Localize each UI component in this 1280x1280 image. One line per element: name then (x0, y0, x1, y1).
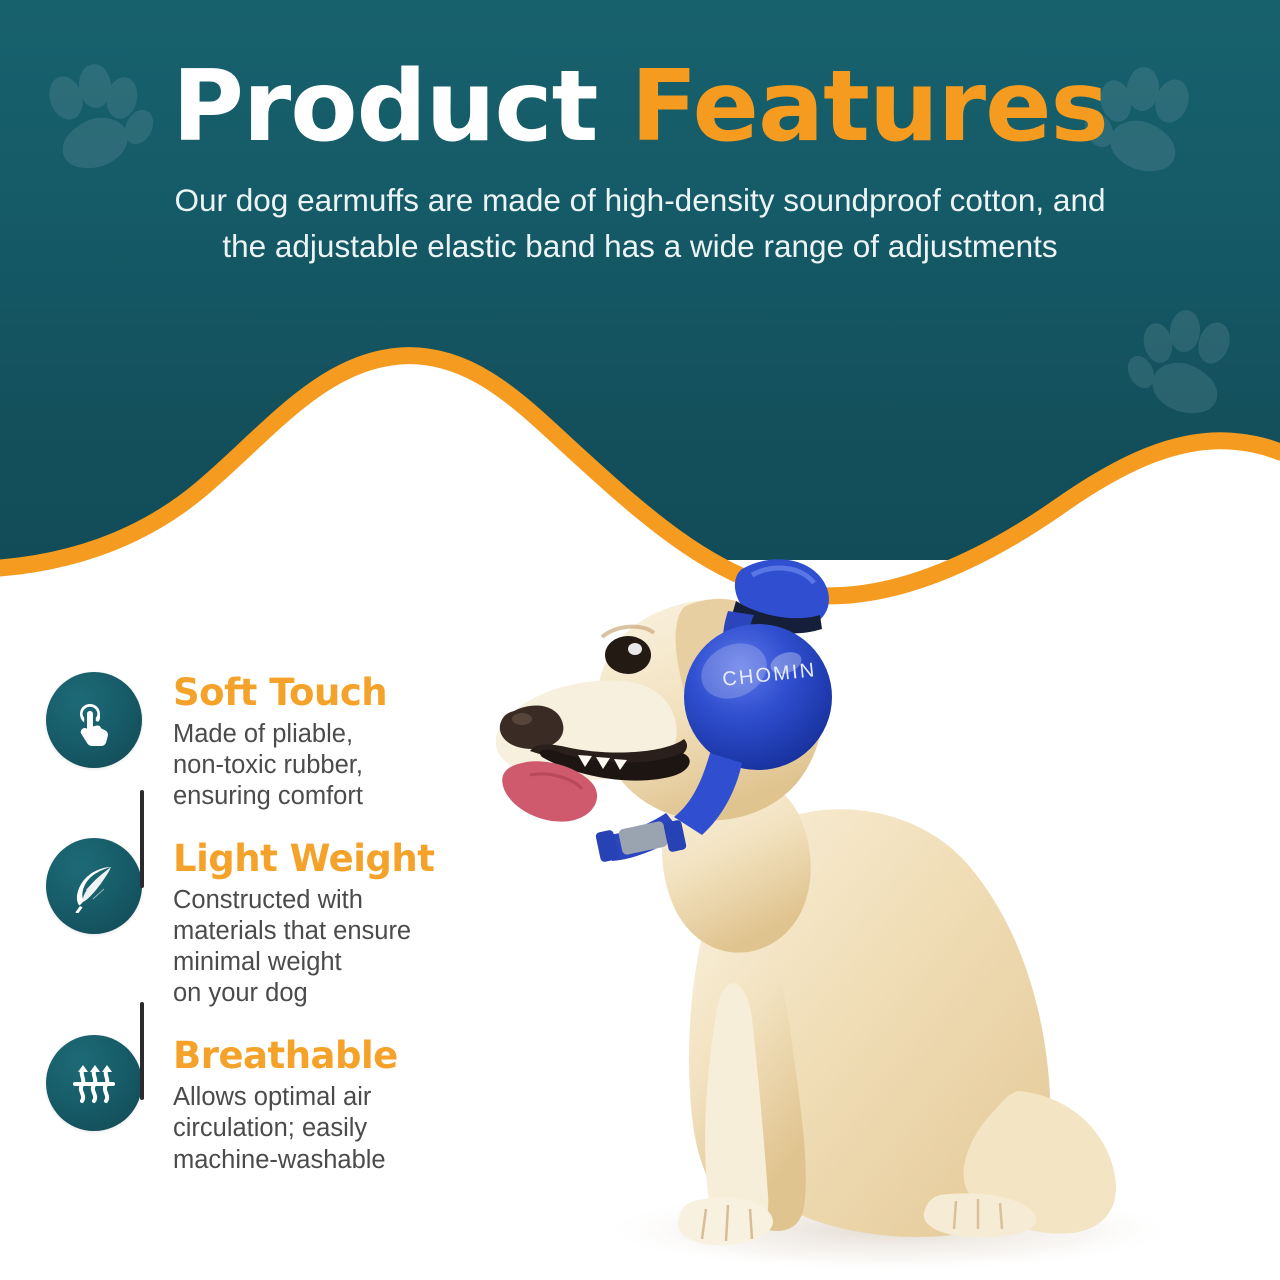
title-word-features: Features (631, 50, 1108, 164)
dog-eye (605, 636, 651, 674)
feature-item-light-weight[interactable]: Light Weight Constructed with materials … (46, 838, 566, 1009)
feature-desc-line: materials that ensure (173, 916, 434, 947)
feature-title: Breathable (173, 1037, 398, 1076)
feature-item-breathable[interactable]: Breathable Allows optimal air circulatio… (46, 1035, 566, 1175)
subtitle-line-1: Our dog earmuffs are made of high-densit… (60, 178, 1220, 224)
airflow-icon (46, 1035, 142, 1131)
feature-text-block: Light Weight Constructed with materials … (142, 838, 434, 1009)
feature-desc-line: Constructed with (173, 885, 434, 916)
subtitle-line-2: the adjustable elastic band has a wide r… (60, 224, 1220, 270)
product-photo-dog-with-earmuffs: CHOMIN (470, 495, 1270, 1280)
title-word-product: Product (172, 50, 597, 164)
feature-desc-line: minimal weight (173, 947, 434, 978)
feature-title: Soft Touch (173, 674, 387, 713)
subtitle: Our dog earmuffs are made of high-densit… (0, 178, 1280, 269)
feature-desc-line: Made of pliable, (173, 719, 387, 750)
feature-description: Made of pliable, non-toxic rubber, ensur… (173, 719, 387, 812)
feature-list: Soft Touch Made of pliable, non-toxic ru… (46, 672, 566, 1176)
feature-desc-line: on your dog (173, 978, 434, 1009)
feature-description: Allows optimal air circulation; easily m… (173, 1082, 398, 1175)
earmuff-buckle (618, 821, 668, 856)
feature-item-soft-touch[interactable]: Soft Touch Made of pliable, non-toxic ru… (46, 672, 566, 812)
feature-desc-line: circulation; easily (173, 1113, 398, 1144)
feature-connector-line (140, 1002, 144, 1100)
feature-desc-line: Allows optimal air (173, 1082, 398, 1113)
feature-description: Constructed with materials that ensure m… (173, 885, 434, 1009)
earmuff-cup (684, 624, 832, 770)
feature-text-block: Soft Touch Made of pliable, non-toxic ru… (142, 672, 387, 812)
tap-hand-icon (46, 672, 142, 768)
feature-desc-line: machine-washable (173, 1145, 398, 1176)
feature-title: Light Weight (173, 840, 434, 879)
feather-icon (46, 838, 142, 934)
product-features-infographic: Product Features Our dog earmuffs are ma… (0, 0, 1280, 1280)
feature-text-block: Breathable Allows optimal air circulatio… (142, 1035, 398, 1175)
feature-desc-line: ensuring comfort (173, 781, 387, 812)
feature-desc-line: non-toxic rubber, (173, 750, 387, 781)
page-title: Product Features (0, 58, 1280, 156)
feature-connector-line (140, 790, 144, 888)
